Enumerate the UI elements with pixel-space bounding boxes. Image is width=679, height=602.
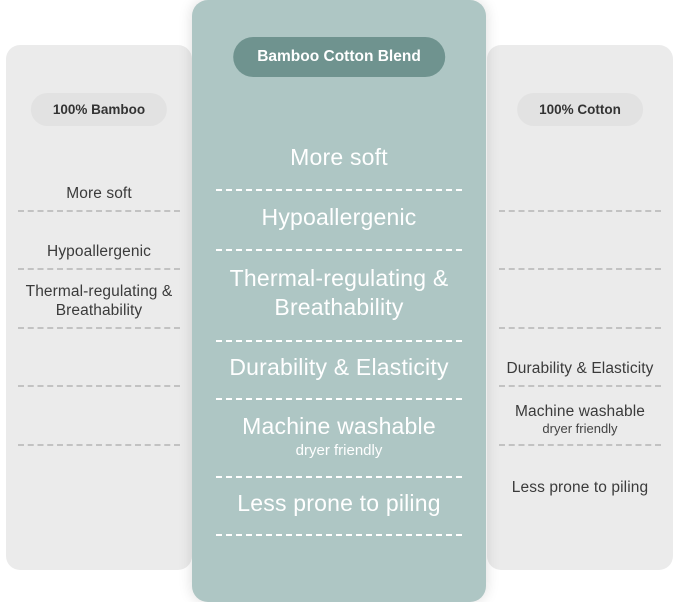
list-item — [18, 446, 180, 505]
list-item-label: Machine washable — [515, 402, 645, 421]
list-item-label: Less prone to piling — [512, 478, 648, 497]
list-item-label: More soft — [290, 143, 388, 172]
list-item-label: Hypoallergenic — [47, 242, 151, 261]
column-blend: Bamboo Cotton Blend More soft Hypoallerg… — [192, 0, 486, 602]
list-item: More soft — [18, 153, 180, 212]
list-item — [18, 329, 180, 388]
list-item: Less prone to piling — [216, 478, 462, 536]
column-blend-feature-list: More soft Hypoallergenic Thermal-regulat… — [216, 131, 462, 536]
list-item: Thermal-regulating & Breathability — [216, 251, 462, 342]
list-item: Machine washable dryer friendly — [216, 400, 462, 478]
list-item: Durability & Elasticity — [499, 329, 661, 388]
list-item — [18, 387, 180, 446]
list-item: Durability & Elasticity — [216, 342, 462, 400]
list-item-label: Durability & Elasticity — [506, 359, 653, 378]
list-item — [499, 212, 661, 271]
list-item-label: Less prone to piling — [237, 489, 440, 518]
list-item-sublabel: dryer friendly — [296, 441, 383, 460]
list-item-sublabel: dryer friendly — [542, 421, 617, 437]
column-bamboo-feature-list: More soft Hypoallergenic Thermal-regulat… — [18, 153, 180, 560]
list-item-label: Durability & Elasticity — [229, 353, 448, 382]
column-bamboo: 100% Bamboo More soft Hypoallergenic The… — [6, 45, 192, 570]
list-item-label: Thermal-regulating & Breathability — [18, 282, 180, 320]
comparison-diagram: 100% Bamboo More soft Hypoallergenic The… — [0, 0, 679, 602]
list-item-label: Thermal-regulating & Breathability — [216, 264, 462, 322]
column-blend-title: Bamboo Cotton Blend — [233, 37, 445, 77]
list-item-label: More soft — [66, 184, 132, 203]
list-item: Hypoallergenic — [18, 212, 180, 271]
list-item: Less prone to piling — [499, 446, 661, 505]
list-item: Hypoallergenic — [216, 191, 462, 251]
list-item-label: Hypoallergenic — [262, 203, 417, 232]
list-item: More soft — [216, 131, 462, 191]
list-item: Thermal-regulating & Breathability — [18, 270, 180, 329]
list-item-label: Machine washable — [242, 412, 436, 441]
column-cotton-title: 100% Cotton — [517, 93, 643, 126]
list-item — [499, 153, 661, 212]
column-cotton: 100% Cotton Durability & Elasticity Mach… — [487, 45, 673, 570]
list-item — [499, 270, 661, 329]
column-cotton-feature-list: Durability & Elasticity Machine washable… — [499, 153, 661, 560]
column-bamboo-title: 100% Bamboo — [31, 93, 167, 126]
list-item: Machine washable dryer friendly — [499, 387, 661, 446]
